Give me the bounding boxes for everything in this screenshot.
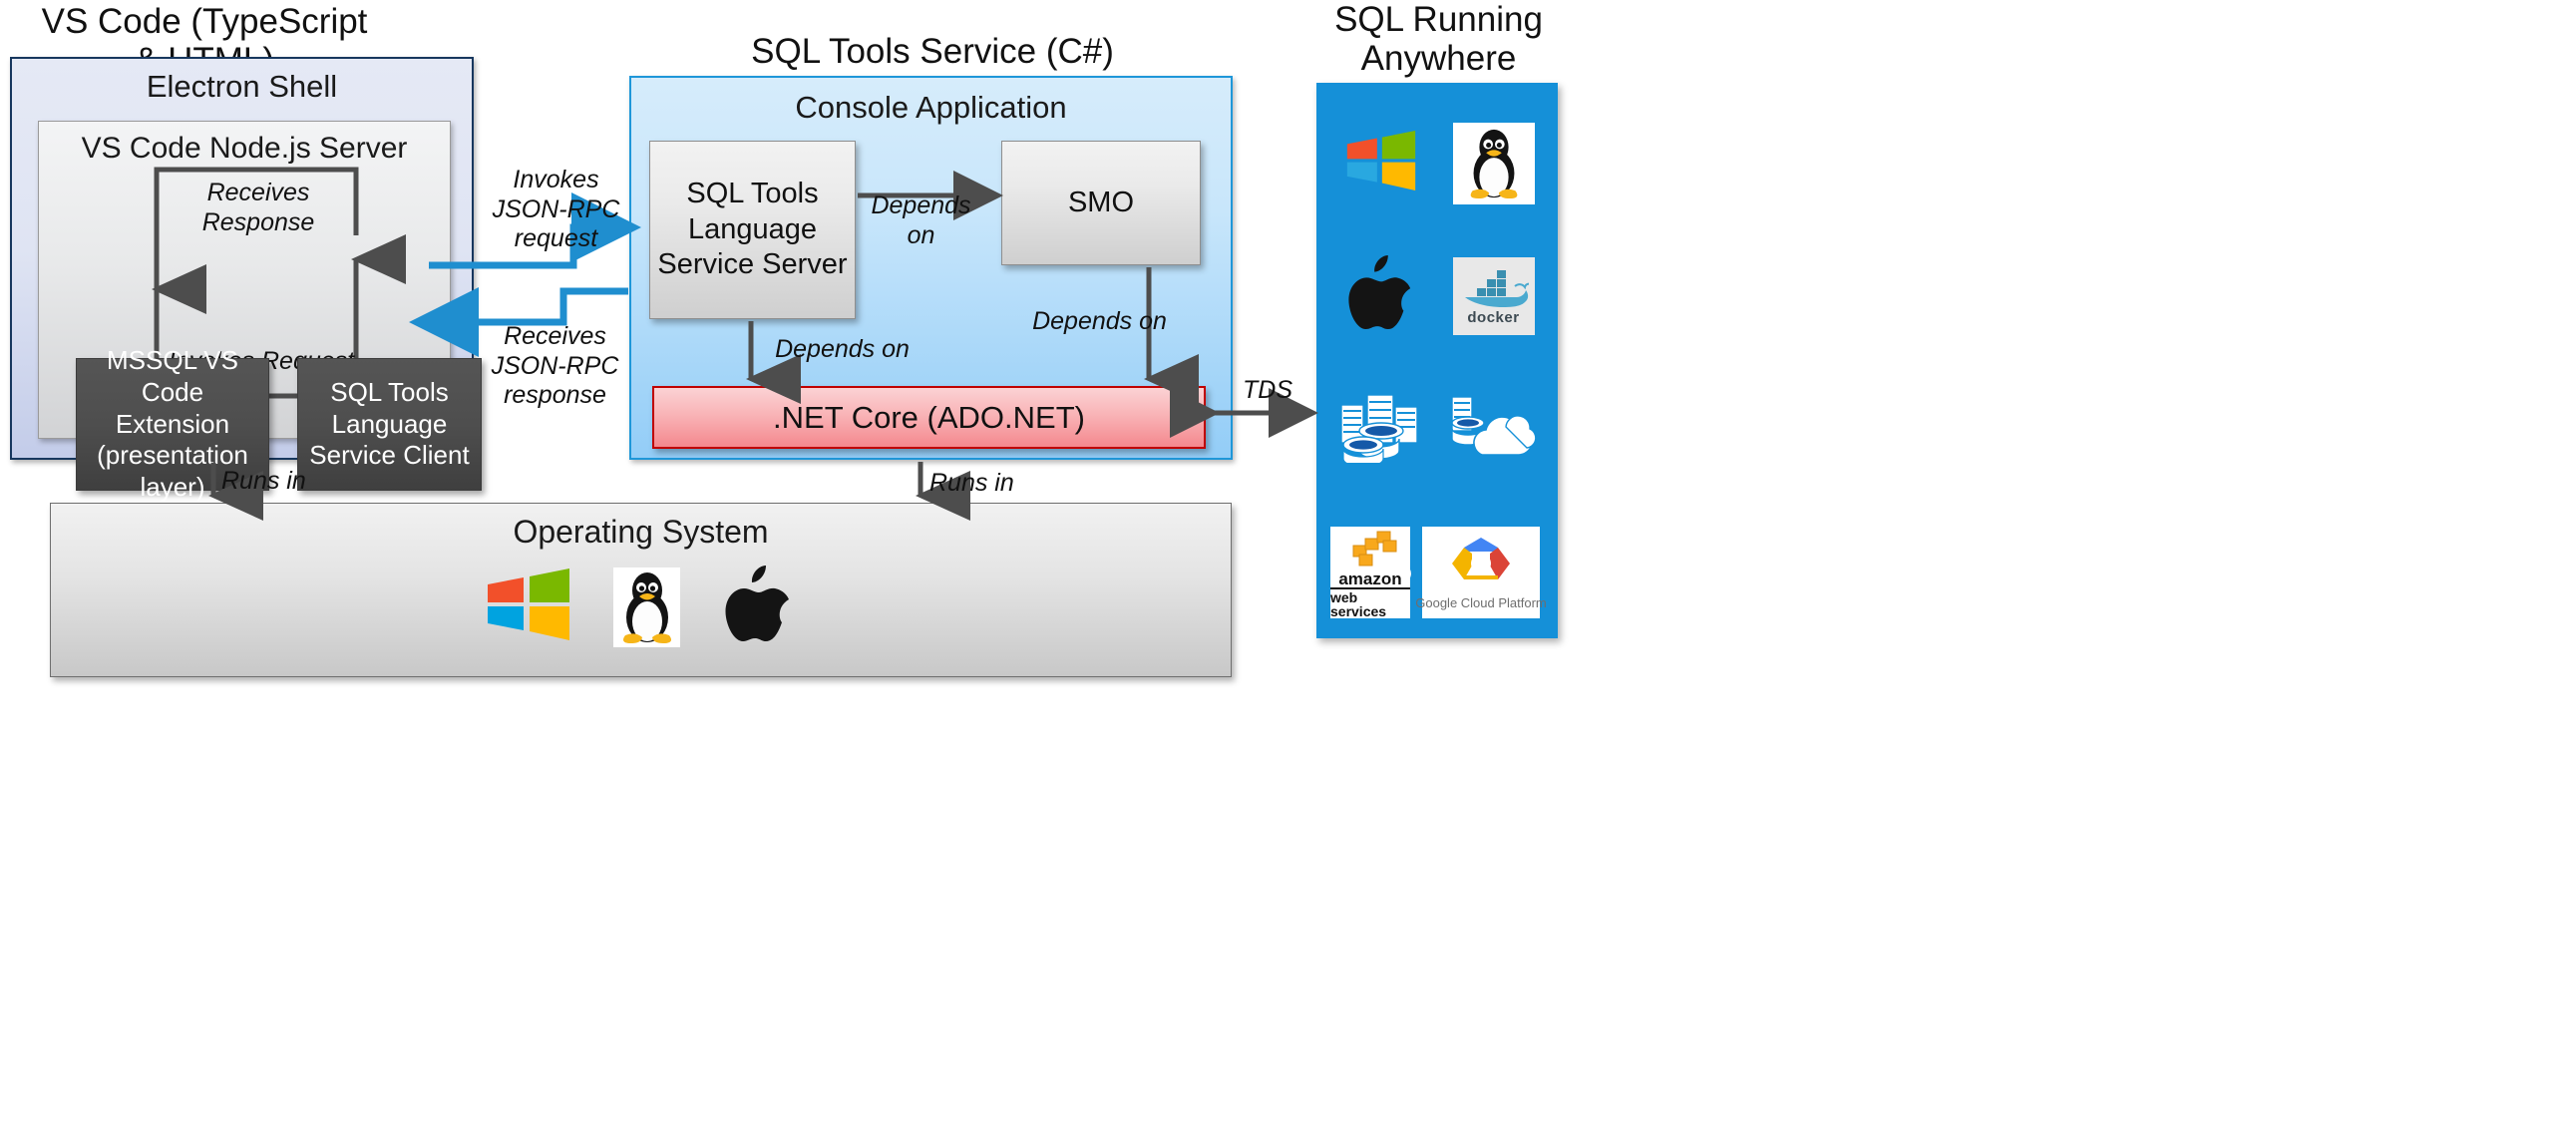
apple-logo-icon: [1345, 251, 1417, 340]
caption-sql-running-anywhere-line2: Anywhere: [1326, 39, 1551, 78]
diagram-canvas: VS Code (TypeScript & HTML) SQL Tools Se…: [0, 0, 2576, 1134]
label-depends-on-netcore-right: Depends on: [1027, 307, 1172, 337]
box-net-core[interactable]: .NET Core (ADO.NET): [652, 386, 1206, 449]
box-smo[interactable]: SMO: [1001, 141, 1201, 265]
panel-operating-system: Operating System: [50, 503, 1232, 677]
caption-sql-running-anywhere: SQL Running Anywhere: [1326, 0, 1551, 78]
os-icon-row: [51, 562, 1231, 652]
docker-logo-label: docker: [1467, 309, 1519, 326]
label-runs-in-left: Runs in: [221, 467, 331, 497]
sql-anywhere-cell: [1437, 363, 1550, 496]
box-sts-server-label: SQL Tools Language Service Server: [656, 177, 849, 282]
panel-electron-shell-title: Electron Shell: [12, 69, 472, 105]
windows-logo-icon: [486, 568, 571, 645]
sql-anywhere-cell: [1324, 363, 1437, 496]
gcp-label: Google Cloud Platform: [1415, 595, 1547, 610]
apple-logo-icon: [722, 562, 796, 652]
linux-tux-icon: [613, 567, 680, 647]
windows-logo-icon: [1345, 131, 1417, 195]
cloud-vendor-row: amazon web services Google Cloud Platfor…: [1330, 527, 1544, 618]
panel-sql-running-anywhere: docker: [1316, 83, 1558, 638]
label-depends-on-smo: Depends on: [864, 191, 978, 250]
label-invokes-json-rpc-request: Invokes JSON-RPC request: [479, 166, 633, 254]
label-runs-in-right: Runs in: [929, 469, 1039, 499]
panel-console-application-title: Console Application: [631, 90, 1231, 126]
google-cloud-platform-logo-icon: Google Cloud Platform: [1422, 527, 1540, 618]
panel-electron-shell: Electron Shell VS Code Node.js Server Re…: [10, 57, 474, 460]
caption-sql-running-anywhere-line1: SQL Running: [1326, 0, 1551, 39]
on-premises-datacenter-icon: [1335, 391, 1427, 468]
panel-node-server: VS Code Node.js Server Receives Response: [38, 121, 451, 439]
box-net-core-label: .NET Core (ADO.NET): [773, 400, 1085, 436]
caption-sql-tools-service: SQL Tools Service (C#): [698, 32, 1167, 71]
sql-anywhere-cell: [1437, 97, 1550, 229]
linux-tux-icon: [1453, 123, 1535, 204]
box-sts-client-label: SQL Tools Language Service Client: [304, 377, 475, 472]
docker-logo-icon: docker: [1453, 257, 1535, 335]
amazon-web-services-logo-icon: amazon web services: [1330, 527, 1410, 618]
aws-label-line1: amazon: [1338, 570, 1401, 587]
label-depends-on-netcore-left: Depends on: [770, 335, 915, 365]
box-sts-server[interactable]: SQL Tools Language Service Server: [649, 141, 856, 319]
sql-anywhere-cell: [1324, 97, 1437, 229]
aws-label-line2: web services: [1330, 587, 1410, 618]
private-cloud-database-icon: [1446, 391, 1542, 468]
sql-anywhere-cell: docker: [1437, 229, 1550, 362]
box-smo-label: SMO: [1068, 186, 1134, 220]
label-tds: TDS: [1233, 376, 1302, 406]
panel-operating-system-title: Operating System: [51, 514, 1231, 551]
label-receives-json-rpc-response: Receives JSON-RPC response: [478, 322, 632, 411]
sql-anywhere-cell: [1324, 229, 1437, 362]
